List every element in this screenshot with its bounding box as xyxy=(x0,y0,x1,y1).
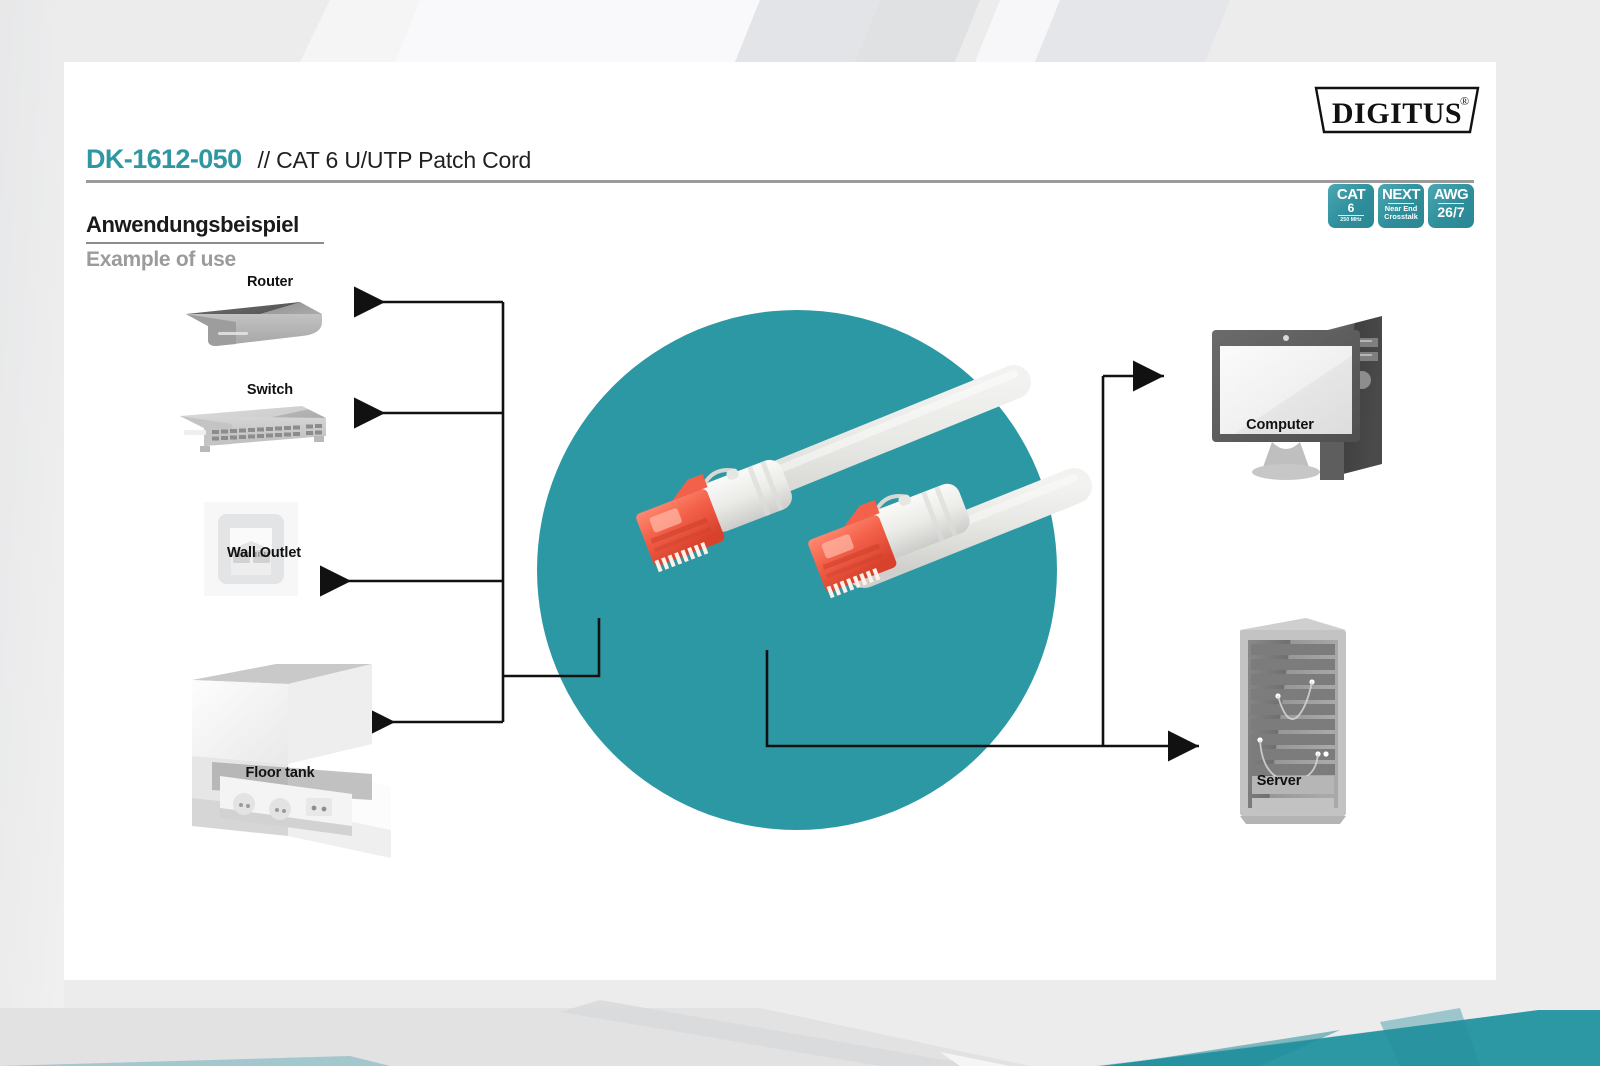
digitus-logo-svg: DIGITUS ® xyxy=(1314,86,1480,134)
registered-mark-icon: ® xyxy=(1460,94,1469,108)
server-icon xyxy=(1240,618,1346,824)
computer-icon xyxy=(1212,316,1382,480)
floor-tank-icon xyxy=(192,664,391,858)
awg-badge-main: AWG xyxy=(1434,187,1468,202)
application-diagram: Router Switch Wall Outlet Floor tank Com… xyxy=(64,62,1496,980)
device-label-computer: Computer xyxy=(1220,417,1340,433)
digitus-logo-text: DIGITUS xyxy=(1332,97,1462,130)
cat-badge-frequency: 250 MHz xyxy=(1340,217,1361,223)
digitus-logo: DIGITUS ® xyxy=(1314,86,1480,134)
product-sheet-card: DIGITUS ® DK-1612-050 // CAT 6 U/UTP Pat… xyxy=(64,62,1496,980)
device-label-wall-outlet: Wall Outlet xyxy=(204,545,324,561)
diagram-svg xyxy=(64,62,1496,980)
device-label-switch: Switch xyxy=(222,382,318,398)
cat-badge-sub: 6 xyxy=(1348,202,1355,214)
switch-icon xyxy=(180,406,326,452)
device-label-floor-tank: Floor tank xyxy=(220,765,340,781)
next-badge-line2: Crosstalk xyxy=(1384,213,1418,221)
device-label-router: Router xyxy=(222,274,318,290)
device-label-server: Server xyxy=(1224,773,1334,789)
cat-badge-main: CAT xyxy=(1337,187,1365,202)
router-icon xyxy=(186,302,322,346)
next-badge: NEXT Near End Crosstalk xyxy=(1378,184,1424,228)
cat-badge: CAT 6 250 MHz xyxy=(1328,184,1374,228)
awg-badge-gauge: 26/7 xyxy=(1437,205,1464,220)
awg-badge: AWG 26/7 xyxy=(1428,184,1474,228)
spec-badge-group: CAT 6 250 MHz NEXT Near End Crosstalk AW… xyxy=(1328,184,1474,228)
next-badge-main: NEXT xyxy=(1382,187,1420,202)
cat-badge-rule xyxy=(1338,215,1364,216)
